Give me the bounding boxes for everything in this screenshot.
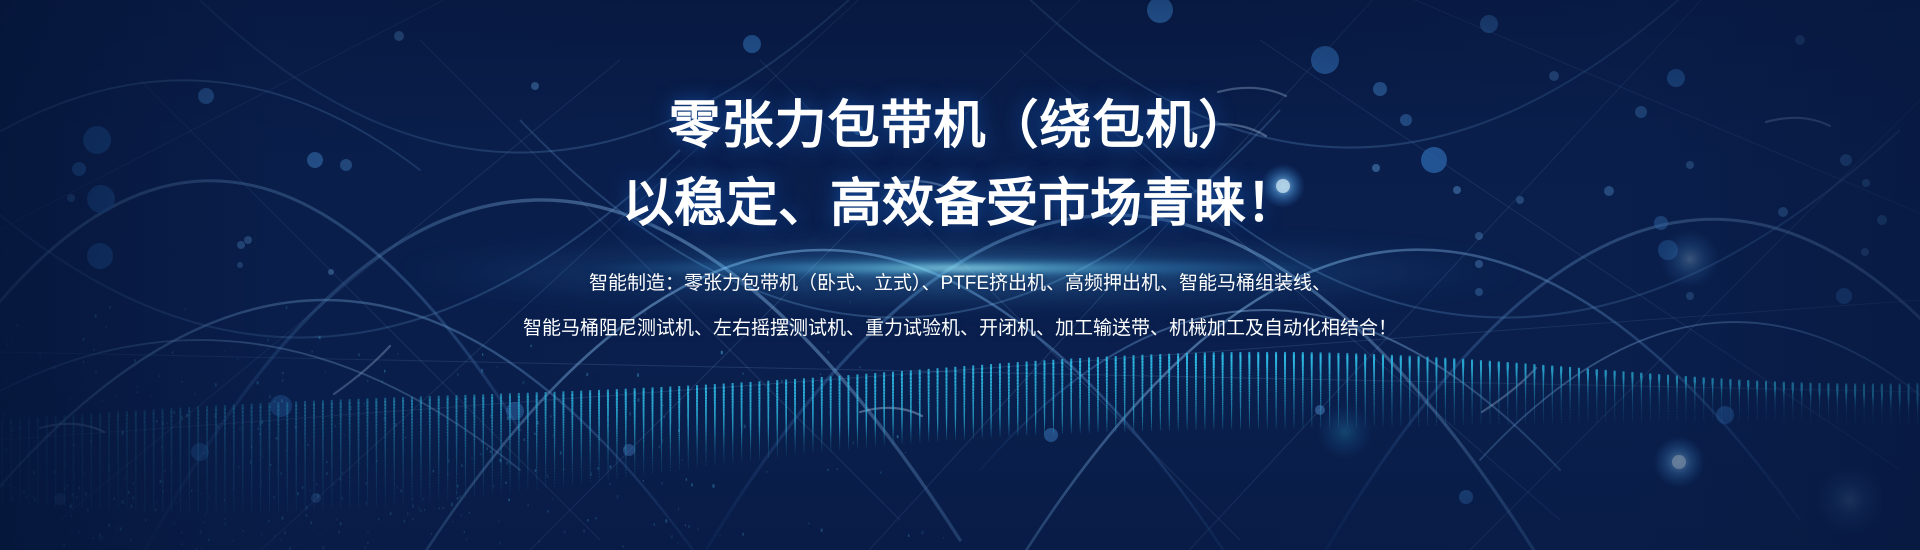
subline-line-1: 智能制造：零张力包带机（卧式、立式）、PTFE挤出机、高频押出机、智能马桶组装线… (589, 274, 1331, 293)
hero-banner: 零张力包带机（绕包机） 以稳定、高效备受市场青睐！ 智能制造：零张力包带机（卧式… (0, 0, 1920, 550)
subline-line-2: 智能马桶阻尼测试机、左右摇摆测试机、重力试验机、开闭机、加工输送带、机械加工及自… (523, 319, 1397, 338)
headline-line-2: 以稳定、高效备受市场青睐！ (622, 178, 1298, 230)
headline-line-1: 零张力包带机（绕包机） (668, 100, 1251, 152)
banner-content: 零张力包带机（绕包机） 以稳定、高效备受市场青睐！ 智能制造：零张力包带机（卧式… (0, 0, 1920, 550)
